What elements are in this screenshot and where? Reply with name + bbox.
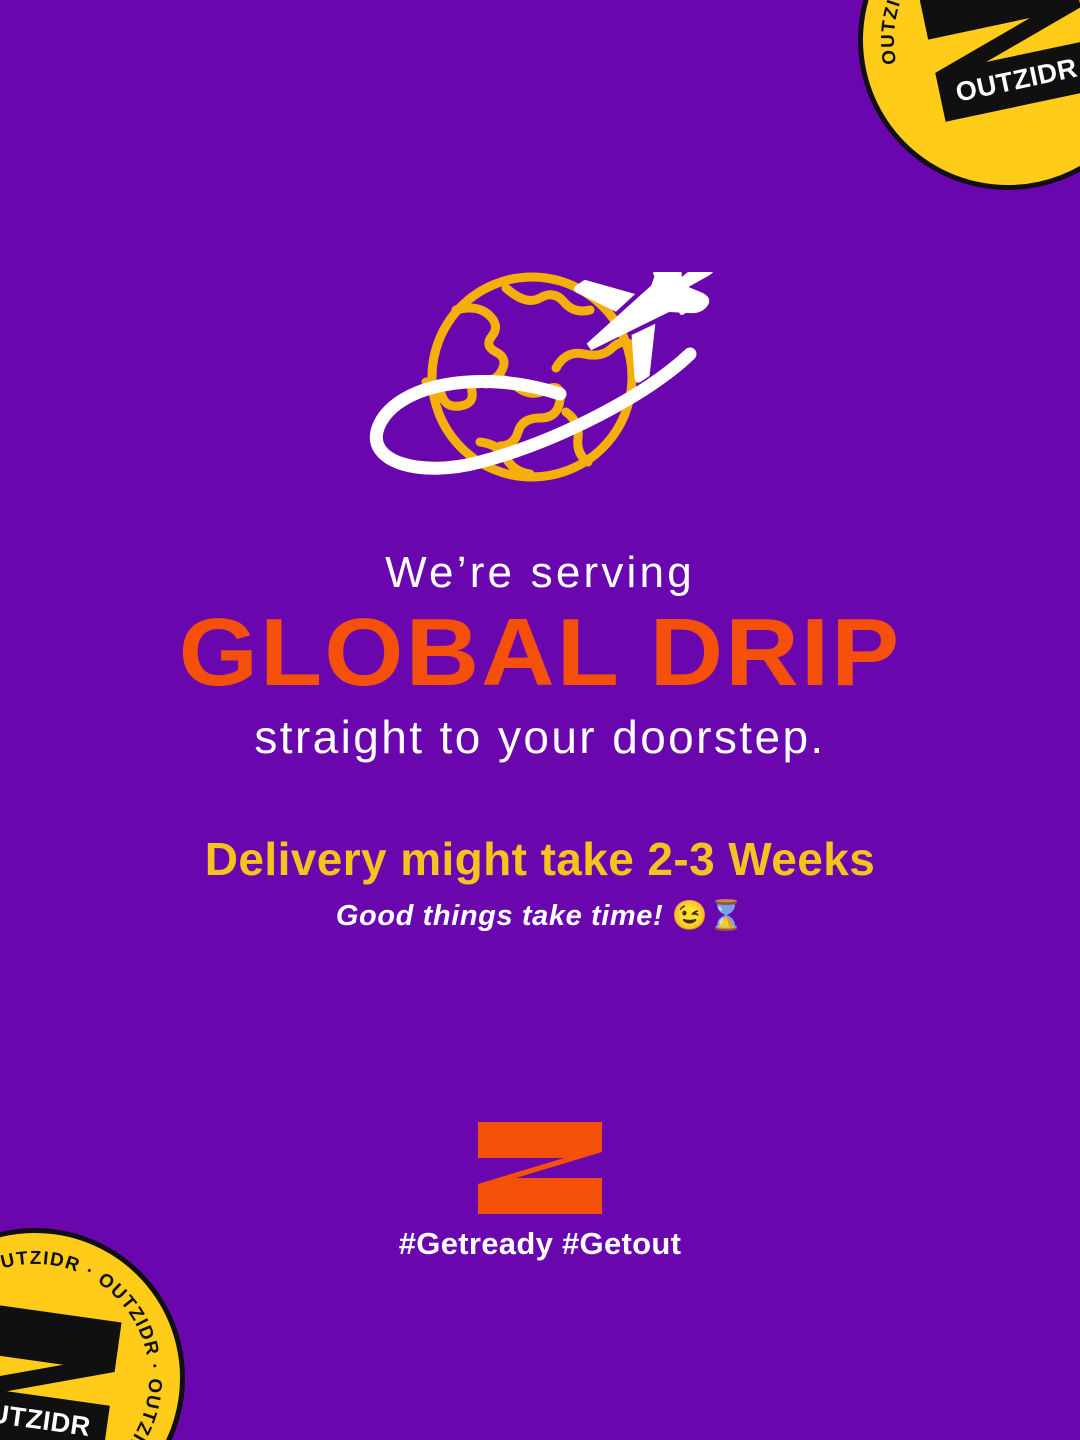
tagline-emoji: 😉⌛ [672,900,744,932]
globe-with-airplane-icon [360,272,720,510]
kicker-text: We’re serving [0,548,1080,597]
headline-text: GLOBAL DRIP [0,605,1080,701]
copy-block: We’re serving GLOBAL DRIP straight to yo… [0,548,1080,934]
promo-poster: OUTZIDR · OUTZIDR · OUTZIDR · OUTZIDR · … [0,0,1080,1440]
hero-illustration [360,272,720,510]
z-logo-icon [478,1122,602,1214]
tagline-label: Good things take time! [336,900,663,932]
airplane-icon [556,272,720,395]
tagline-text: Good things take time! 😉⌛ [0,899,1080,934]
hashtags-text: #Getready #Getout [0,1228,1080,1259]
delivery-note-text: Delivery might take 2-3 Weeks [0,834,1080,885]
sticker-badge-top-right: OUTZIDR · OUTZIDR · OUTZIDR · OUTZIDR · … [830,0,1080,218]
subline-text: straight to your doorstep. [0,711,1080,764]
badge-core-bottom-left: OUTZIDR [0,1291,133,1440]
footer-lockup: #Getready #Getout [0,1122,1080,1259]
